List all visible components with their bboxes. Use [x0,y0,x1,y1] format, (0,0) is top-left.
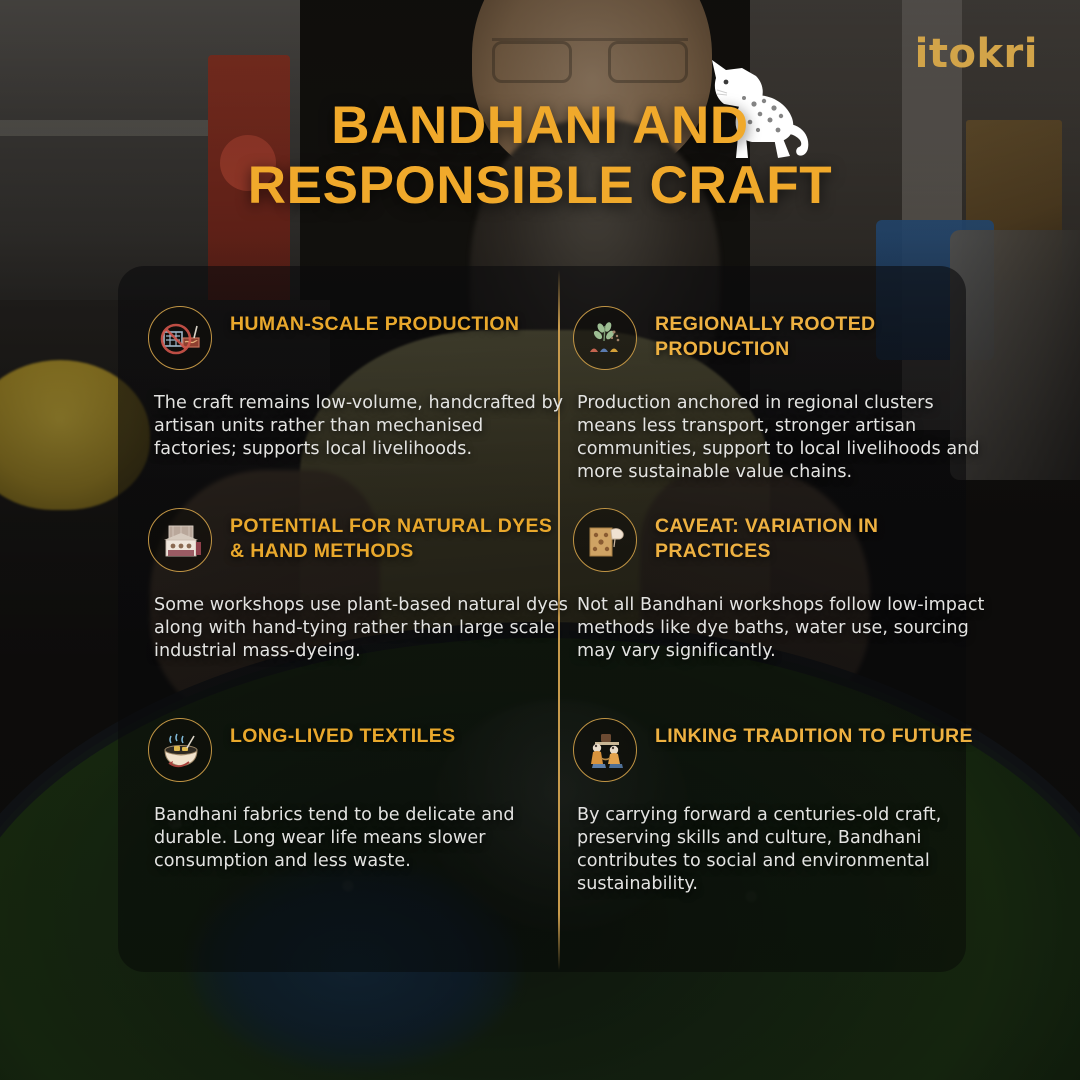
block-title: REGIONALLY ROOTED PRODUCTION [655,306,985,361]
feature-grid: HUMAN-SCALE PRODUCTION The craft remains… [118,266,966,972]
block-body: Not all Bandhani workshops follow low-im… [573,594,985,663]
hand-holding-fabric-icon [573,508,637,572]
block-title: POTENTIAL FOR NATURAL DYES & HAND METHOD… [230,508,568,563]
infographic-canvas: itokri BANDHANI AND RESPONSIBLE CRAFT [0,0,1080,1080]
no-factory-icon [148,306,212,370]
artisan-workshop-icon [148,508,212,572]
block-body: Production anchored in regional clusters… [573,392,985,483]
block-header: LONG-LIVED TEXTILES [148,718,568,782]
feature-block-caveat-variation-in-practices: CAVEAT: VARIATION IN PRACTICES Not all B… [573,508,985,663]
block-body: Bandhani fabrics tend to be delicate and… [148,804,568,873]
block-header: REGIONALLY ROOTED PRODUCTION [573,306,985,370]
title-line-1: BANDHANI AND [331,96,748,155]
block-header: POTENTIAL FOR NATURAL DYES & HAND METHOD… [148,508,568,572]
natural-dye-plants-icon [573,306,637,370]
feature-block-human-scale-production: HUMAN-SCALE PRODUCTION The craft remains… [148,306,568,461]
block-body: Some workshops use plant-based natural d… [148,594,568,663]
block-title: CAVEAT: VARIATION IN PRACTICES [655,508,985,563]
feature-block-regionally-rooted-production: REGIONALLY ROOTED PRODUCTION Production … [573,306,985,483]
feature-block-linking-tradition-to-future: LINKING TRADITION TO FUTURE By carrying … [573,718,985,895]
block-title: LONG-LIVED TEXTILES [230,718,456,749]
block-header: LINKING TRADITION TO FUTURE [573,718,985,782]
feature-block-long-lived-textiles: LONG-LIVED TEXTILES Bandhani fabrics ten… [148,718,568,873]
steaming-dye-pot-icon [148,718,212,782]
title-line-2: RESPONSIBLE CRAFT [120,156,960,216]
block-header: CAVEAT: VARIATION IN PRACTICES [573,508,985,572]
feature-block-natural-dyes-hand-methods: POTENTIAL FOR NATURAL DYES & HAND METHOD… [148,508,568,663]
two-artisans-icon [573,718,637,782]
page-title: BANDHANI AND RESPONSIBLE CRAFT [0,96,1080,217]
block-body: The craft remains low-volume, handcrafte… [148,392,568,461]
block-title: LINKING TRADITION TO FUTURE [655,718,973,749]
block-header: HUMAN-SCALE PRODUCTION [148,306,568,370]
block-body: By carrying forward a centuries-old craf… [573,804,985,895]
block-title: HUMAN-SCALE PRODUCTION [230,306,519,337]
brand-logo[interactable]: itokri [915,34,1038,74]
